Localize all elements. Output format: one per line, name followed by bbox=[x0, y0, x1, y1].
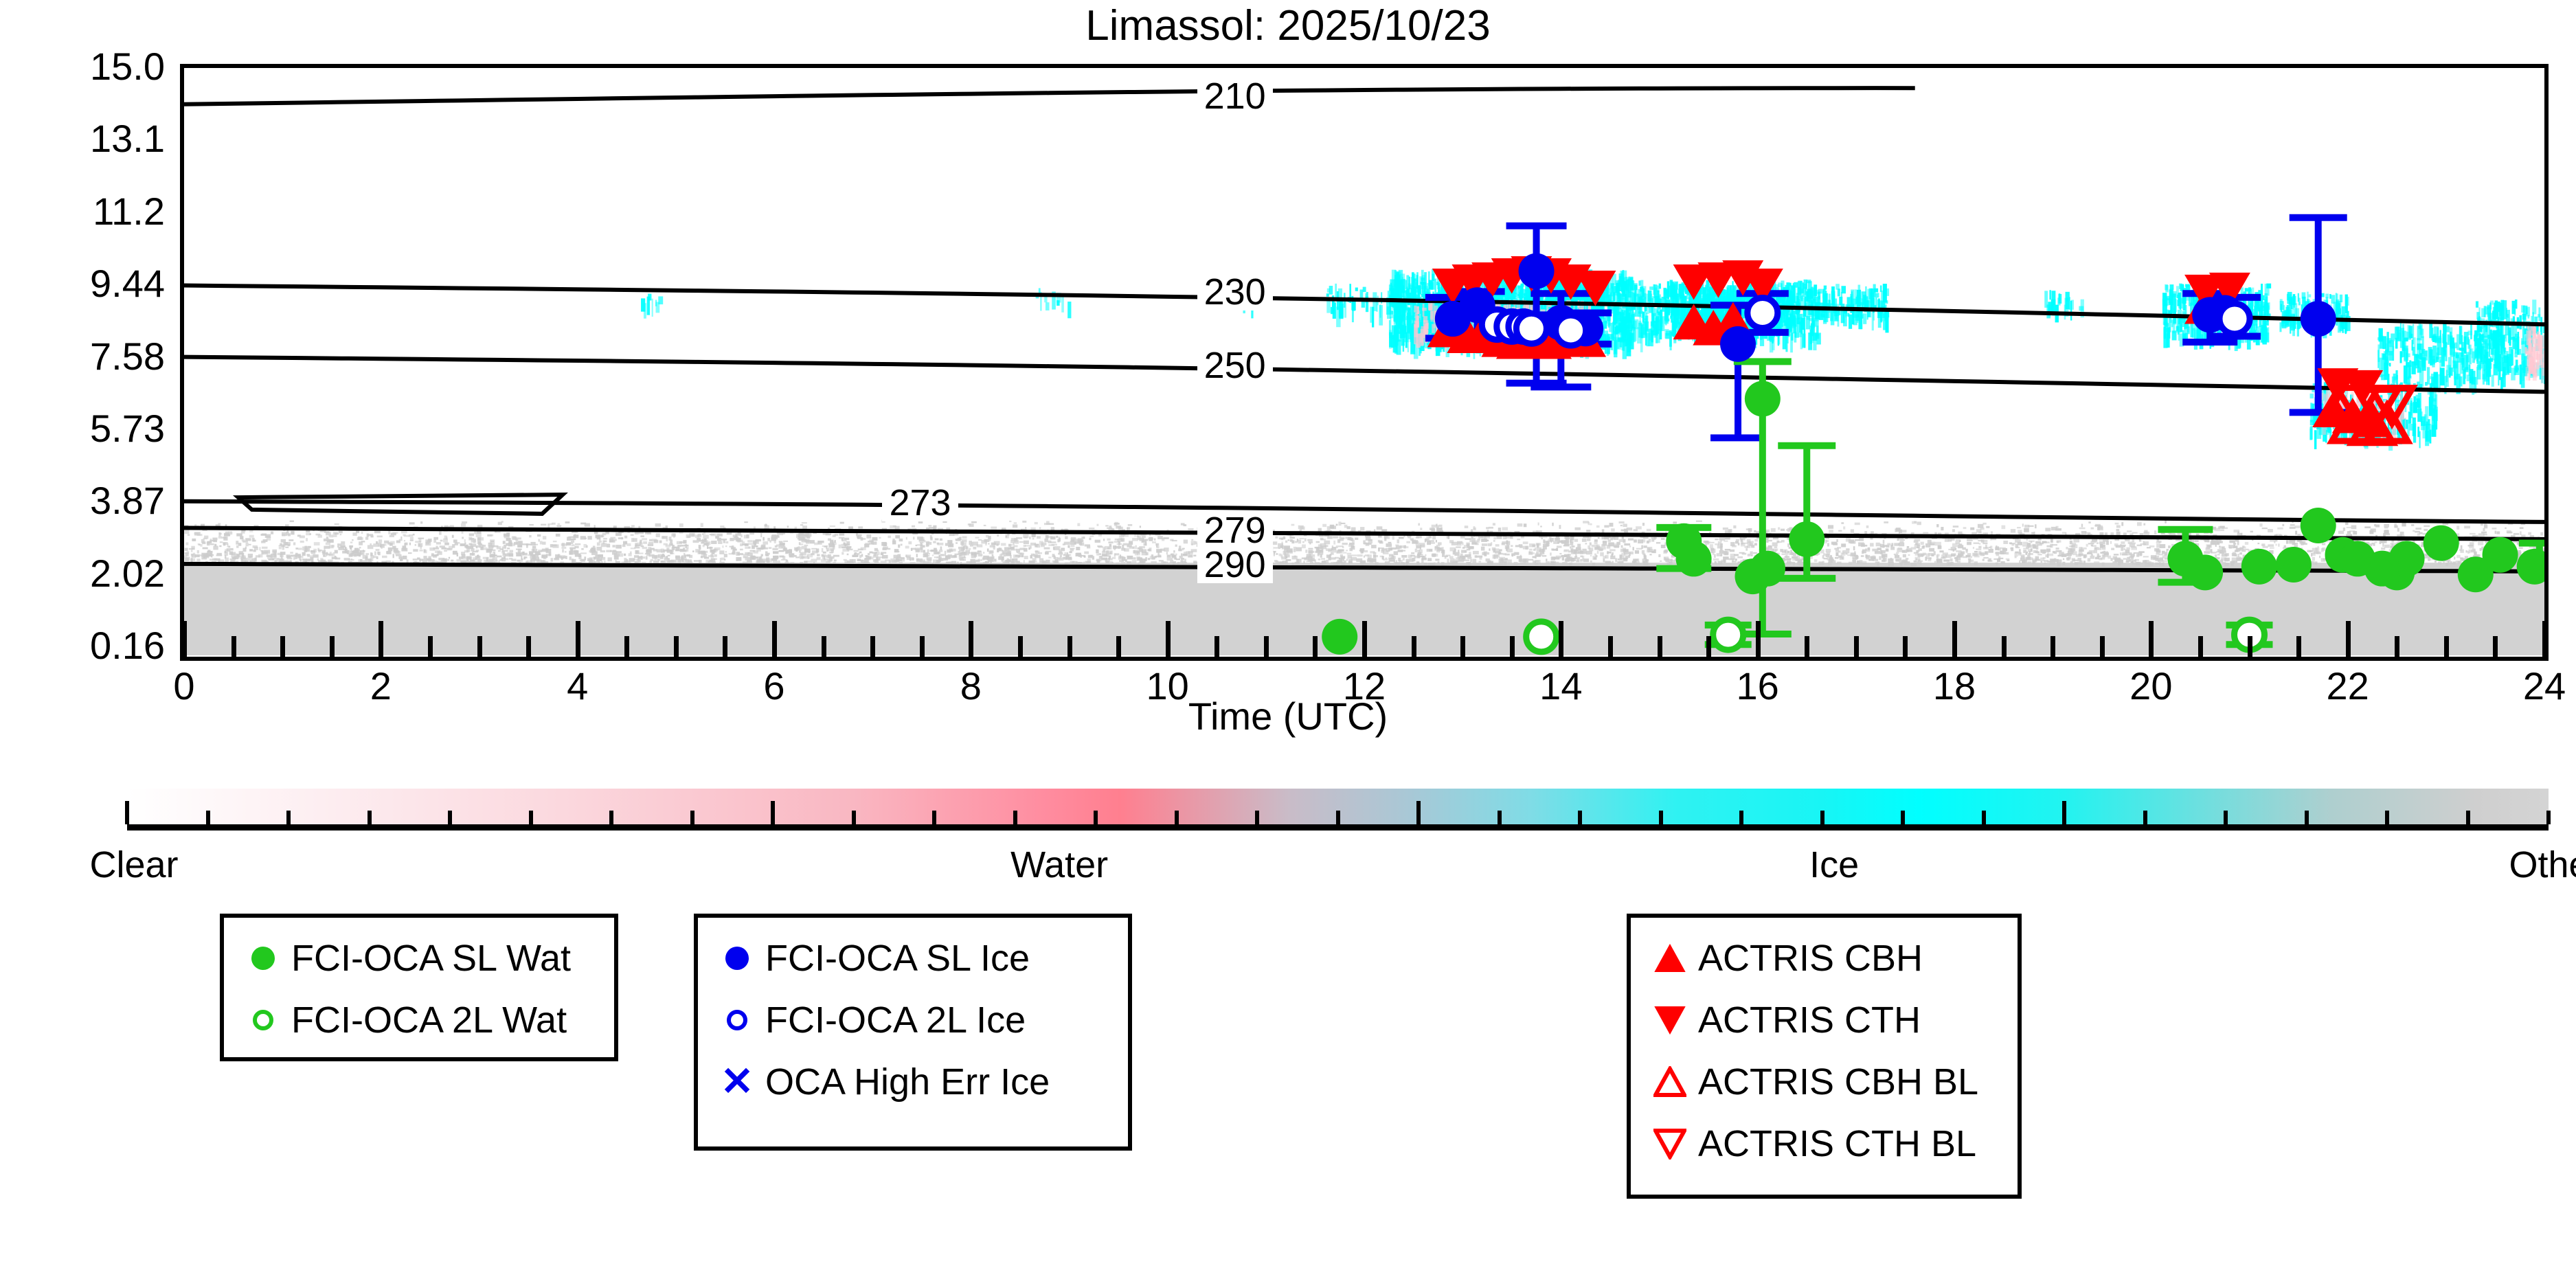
marker-fci-oca-sl-wat bbox=[2517, 549, 2544, 585]
marker-fci-oca-2l-wat bbox=[1713, 620, 1743, 650]
legend-item-label: ACTRIS CTH BL bbox=[1694, 1122, 1976, 1165]
x-minor-tick bbox=[2248, 636, 2252, 657]
x-minor-tick bbox=[280, 636, 285, 657]
marker-fci-oca-sl-wat bbox=[2424, 526, 2459, 561]
colorbar-minor-tick bbox=[852, 811, 856, 824]
x-minor-tick bbox=[231, 636, 236, 657]
colorbar-minor-tick bbox=[1498, 811, 1502, 824]
filled-circle-icon bbox=[251, 947, 275, 970]
marker-fci-oca-sl-wat bbox=[2276, 547, 2312, 583]
filled-triangle-down-icon bbox=[1653, 1004, 1686, 1036]
colorbar-label: Water bbox=[922, 844, 1197, 886]
x-axis-title: Time (UTC) bbox=[0, 694, 2576, 738]
x-minor-tick bbox=[674, 636, 679, 657]
x-minor-tick bbox=[1706, 636, 1711, 657]
open-triangle-down-icon bbox=[1653, 1128, 1686, 1160]
marker-fci-oca-sl-wat bbox=[2301, 508, 2336, 543]
y-tick-label: 11.2 bbox=[0, 189, 165, 234]
x-minor-tick bbox=[428, 636, 433, 657]
legend-item-fci-oca-sl-ice[interactable]: FCI-OCA SL Ice bbox=[698, 927, 1128, 989]
legend-item-fci-oca-2l-wat[interactable]: FCI-OCA 2L Wat bbox=[224, 989, 614, 1051]
chart-page: Limassol: 2025/10/23 Height AMSL (Km) 15… bbox=[0, 0, 2576, 1288]
y-tick-label: 7.58 bbox=[0, 334, 165, 379]
marker-fci-oca-sl-wat bbox=[1745, 381, 1781, 416]
colorbar-minor-tick bbox=[932, 811, 936, 824]
x-major-tick bbox=[1362, 621, 1367, 657]
x-major-tick bbox=[576, 621, 580, 657]
colorbar-minor-tick bbox=[2143, 811, 2147, 824]
marker-fci-oca-sl-wat bbox=[2187, 554, 2223, 590]
marker-fci-oca-sl-ice bbox=[1720, 326, 1756, 362]
x-minor-tick bbox=[1116, 636, 1121, 657]
marker-fci-oca-2l-ice bbox=[1516, 313, 1546, 343]
colorbar-minor-tick bbox=[529, 811, 533, 824]
colorbar-minor-tick bbox=[609, 811, 613, 824]
colorbar-minor-tick bbox=[2466, 811, 2470, 824]
x-minor-tick bbox=[1854, 636, 1859, 657]
legend-rows: FCI-OCA SL IceFCI-OCA 2L Ice✕OCA High Er… bbox=[698, 918, 1128, 1113]
legend-item-label: FCI-OCA SL Ice bbox=[761, 937, 1030, 980]
legend-item-actris-cth[interactable]: ACTRIS CTH bbox=[1631, 989, 2018, 1051]
colorbar-minor-tick bbox=[1820, 811, 1824, 824]
marker-fci-oca-sl-wat bbox=[1676, 541, 1712, 576]
x-minor-tick bbox=[1018, 636, 1023, 657]
colorbar-minor-tick bbox=[2305, 811, 2309, 824]
legend-item-label: ACTRIS CBH bbox=[1694, 937, 1923, 980]
marker-fci-oca-2l-wat bbox=[1526, 622, 1557, 652]
x-minor-tick bbox=[2296, 636, 2301, 657]
x-minor-tick bbox=[870, 636, 875, 657]
colorbar-minor-tick bbox=[1255, 811, 1259, 824]
x-minor-tick bbox=[1067, 636, 1072, 657]
x-minor-tick bbox=[2050, 636, 2055, 657]
x-minor-tick bbox=[1608, 636, 1613, 657]
legend-rows: ACTRIS CBHACTRIS CTHACTRIS CBH BLACTRIS … bbox=[1631, 918, 2018, 1175]
colorbar-minor-tick bbox=[1094, 811, 1098, 824]
legend-item-label: ACTRIS CTH bbox=[1694, 999, 1921, 1041]
colorbar-minor-tick bbox=[2385, 811, 2389, 824]
legend-item-label: FCI-OCA 2L Wat bbox=[287, 999, 567, 1041]
colorbar-label: Other bbox=[2418, 844, 2576, 886]
y-tick-label: 0.16 bbox=[0, 623, 165, 668]
colorbar-major-tick bbox=[2062, 801, 2066, 824]
legend-marker-filled-circle bbox=[713, 947, 761, 970]
legend-water: FCI-OCA SL WatFCI-OCA 2L Wat bbox=[220, 914, 618, 1061]
y-tick-label: 5.73 bbox=[0, 406, 165, 451]
y-tick-label: 2.02 bbox=[0, 551, 165, 596]
marker-fci-oca-sl-wat bbox=[2241, 549, 2277, 585]
x-minor-tick bbox=[1313, 636, 1318, 657]
colorbar-minor-tick bbox=[448, 811, 452, 824]
colorbar-minor-tick bbox=[1013, 811, 1017, 824]
colorbar-label: Ice bbox=[1697, 844, 1971, 886]
legend-actris: ACTRIS CBHACTRIS CTHACTRIS CBH BLACTRIS … bbox=[1627, 914, 2022, 1199]
page-title: Limassol: 2025/10/23 bbox=[0, 1, 2576, 50]
colorbar-major-tick bbox=[125, 801, 129, 824]
marker-fci-oca-2l-ice bbox=[1556, 315, 1586, 346]
legend-marker-triangle bbox=[1646, 1128, 1694, 1160]
marker-fci-oca-sl-wat bbox=[1789, 521, 1824, 557]
legend-marker-open-circle bbox=[239, 1010, 287, 1030]
x-major-tick bbox=[2542, 621, 2547, 657]
colorbar-major-tick bbox=[771, 801, 775, 824]
x-major-tick bbox=[1952, 621, 1957, 657]
marker-actris-cth bbox=[1574, 271, 1616, 306]
x-major-tick bbox=[1559, 621, 1563, 657]
x-minor-tick bbox=[2198, 636, 2203, 657]
open-circle-icon bbox=[253, 1010, 273, 1030]
y-tick-label: 15.0 bbox=[0, 44, 165, 89]
y-tick-label: 3.87 bbox=[0, 478, 165, 523]
x-minor-tick bbox=[2444, 636, 2449, 657]
marker-fci-oca-sl-wat bbox=[2389, 541, 2425, 576]
legend-item-label: ACTRIS CBH BL bbox=[1694, 1061, 1978, 1103]
legend-item-label: FCI-OCA 2L Ice bbox=[761, 999, 1026, 1041]
x-major-tick bbox=[969, 621, 973, 657]
legend-marker-triangle bbox=[1646, 1066, 1694, 1098]
legend-item-fci-oca-sl-wat[interactable]: FCI-OCA SL Wat bbox=[224, 927, 614, 989]
colorbar-minor-tick bbox=[690, 811, 694, 824]
colorbar-minor-tick bbox=[1901, 811, 1905, 824]
y-tick-label: 9.44 bbox=[0, 261, 165, 306]
colorbar-minor-tick bbox=[206, 811, 210, 824]
x-minor-tick bbox=[1460, 636, 1465, 657]
x-minor-tick bbox=[723, 636, 727, 657]
x-major-tick bbox=[2346, 621, 2351, 657]
open-circle-icon bbox=[727, 1010, 747, 1030]
y-tick-label: 13.1 bbox=[0, 116, 165, 161]
colorbar-minor-tick bbox=[1739, 811, 1743, 824]
plot-area: 210230250273279290 bbox=[180, 64, 2549, 661]
legend-item-actris-cth-bl[interactable]: ACTRIS CTH BL bbox=[1631, 1113, 2018, 1175]
filled-triangle-up-icon bbox=[1653, 942, 1686, 974]
colorbar-minor-tick bbox=[1175, 811, 1179, 824]
colorbar-minor-tick bbox=[1578, 811, 1582, 824]
x-minor-tick bbox=[1805, 636, 1809, 657]
legend-item-fci-oca-2l-ice[interactable]: FCI-OCA 2L Ice bbox=[698, 989, 1128, 1051]
x-minor-tick bbox=[1214, 636, 1219, 657]
x-minor-tick bbox=[2100, 636, 2105, 657]
marker-fci-oca-sl-wat bbox=[2483, 537, 2518, 573]
colorbar-label: Clear bbox=[0, 844, 271, 886]
x-minor-tick bbox=[822, 636, 826, 657]
colorbar-minor-tick bbox=[368, 811, 372, 824]
error-bar bbox=[1778, 446, 1835, 578]
colorbar-major-tick bbox=[1416, 801, 1421, 824]
colorbar-minor-tick bbox=[1659, 811, 1663, 824]
x-major-tick bbox=[1166, 621, 1171, 657]
colorbar-minor-tick bbox=[1336, 811, 1340, 824]
x-minor-tick bbox=[1412, 636, 1416, 657]
x-minor-tick bbox=[2395, 636, 2399, 657]
legend-ice: FCI-OCA SL IceFCI-OCA 2L Ice✕OCA High Er… bbox=[694, 914, 1132, 1151]
marker-fci-oca-sl-ice bbox=[2301, 301, 2336, 337]
colorbar-minor-tick bbox=[1982, 811, 1986, 824]
marker-fci-oca-sl-wat bbox=[1750, 551, 1785, 587]
x-major-tick bbox=[379, 621, 383, 657]
plot-canvas: 210230250273279290 bbox=[184, 68, 2544, 657]
legend-marker-triangle bbox=[1646, 1004, 1694, 1036]
marker-fci-oca-2l-ice bbox=[2219, 304, 2250, 334]
legend-rows: FCI-OCA SL WatFCI-OCA 2L Wat bbox=[224, 918, 614, 1051]
x-minor-tick bbox=[1903, 636, 1908, 657]
x-major-tick bbox=[772, 621, 777, 657]
x-minor-tick bbox=[1510, 636, 1515, 657]
legend-item-actris-cbh[interactable]: ACTRIS CBH bbox=[1631, 927, 2018, 989]
colorbar-minor-tick bbox=[286, 811, 291, 824]
legend-item-oca-high-err-ice[interactable]: ✕OCA High Err Ice bbox=[698, 1051, 1128, 1113]
legend-item-label: FCI-OCA SL Wat bbox=[287, 937, 571, 980]
legend-marker-open-circle bbox=[713, 1010, 761, 1030]
marker-fci-oca-2l-ice bbox=[1748, 298, 1778, 328]
legend-item-label: OCA High Err Ice bbox=[761, 1061, 1050, 1103]
cross-icon: ✕ bbox=[721, 1062, 754, 1102]
x-major-tick bbox=[182, 621, 187, 657]
legend-marker-filled-circle bbox=[239, 947, 287, 970]
marker-fci-oca-sl-ice bbox=[1519, 253, 1555, 289]
x-major-tick bbox=[2149, 621, 2154, 657]
x-minor-tick bbox=[920, 636, 925, 657]
legend-item-actris-cbh-bl[interactable]: ACTRIS CBH BL bbox=[1631, 1051, 2018, 1113]
legend-marker-triangle bbox=[1646, 942, 1694, 974]
x-minor-tick bbox=[1264, 636, 1269, 657]
x-minor-tick bbox=[2002, 636, 2007, 657]
data-markers bbox=[184, 68, 2544, 657]
colorbar-minor-tick bbox=[2224, 811, 2228, 824]
marker-fci-oca-sl-wat bbox=[1322, 619, 1357, 655]
x-minor-tick bbox=[2493, 636, 2498, 657]
x-minor-tick bbox=[477, 636, 482, 657]
colorbar-minor-tick bbox=[2546, 811, 2551, 824]
colorbar-axis bbox=[127, 824, 2549, 831]
x-minor-tick bbox=[1658, 636, 1662, 657]
x-major-tick bbox=[1756, 621, 1761, 657]
legend-marker-cross: ✕ bbox=[713, 1062, 761, 1102]
x-minor-tick bbox=[624, 636, 629, 657]
x-minor-tick bbox=[330, 636, 335, 657]
x-minor-tick bbox=[526, 636, 531, 657]
filled-circle-icon bbox=[725, 947, 749, 970]
open-triangle-up-icon bbox=[1653, 1066, 1686, 1098]
